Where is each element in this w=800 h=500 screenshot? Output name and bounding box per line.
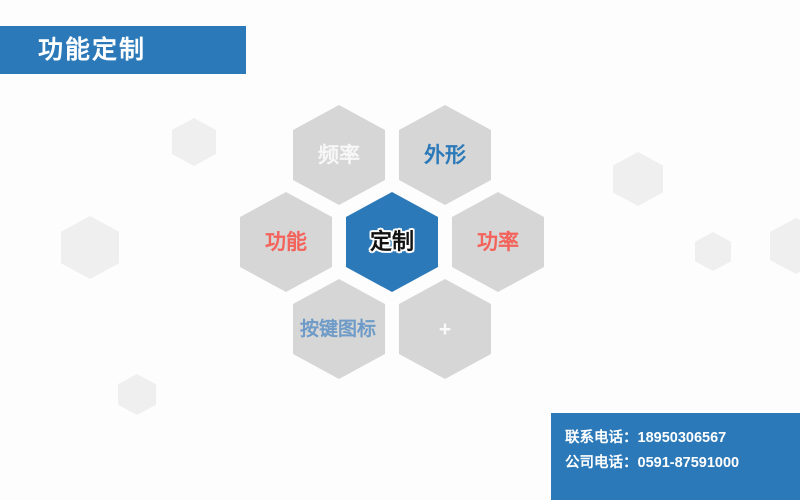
hex-node-more[interactable]: + (399, 279, 491, 379)
company-phone-line: 公司电话：0591-87591000 (565, 451, 800, 476)
hex-node-function[interactable]: 功能 (240, 192, 332, 292)
hex-label-function: 功能 (265, 232, 307, 253)
hex-label-frequency: 频率 (318, 145, 360, 166)
hex-node-key-icon[interactable]: 按键图标 (293, 279, 385, 379)
slide-canvas: 功能定制 频率 外形 功能 定制 功率 按键图标 + 联系电话：18950306… (0, 0, 800, 500)
hex-label-key-icon: 按键图标 (292, 320, 384, 339)
hex-node-frequency[interactable]: 频率 (293, 105, 385, 205)
hex-label-custom: 定制 (370, 231, 414, 253)
contact-phone-line: 联系电话：18950306567 (565, 426, 800, 451)
hex-node-custom[interactable]: 定制 (346, 192, 438, 292)
hex-node-power[interactable]: 功率 (452, 192, 544, 292)
hex-label-appearance: 外形 (424, 145, 466, 166)
hex-node-appearance[interactable]: 外形 (399, 105, 491, 205)
contact-info-box: 联系电话：18950306567 公司电话：0591-87591000 (551, 413, 800, 500)
hex-label-power: 功率 (477, 232, 519, 253)
plus-icon: + (439, 319, 451, 340)
